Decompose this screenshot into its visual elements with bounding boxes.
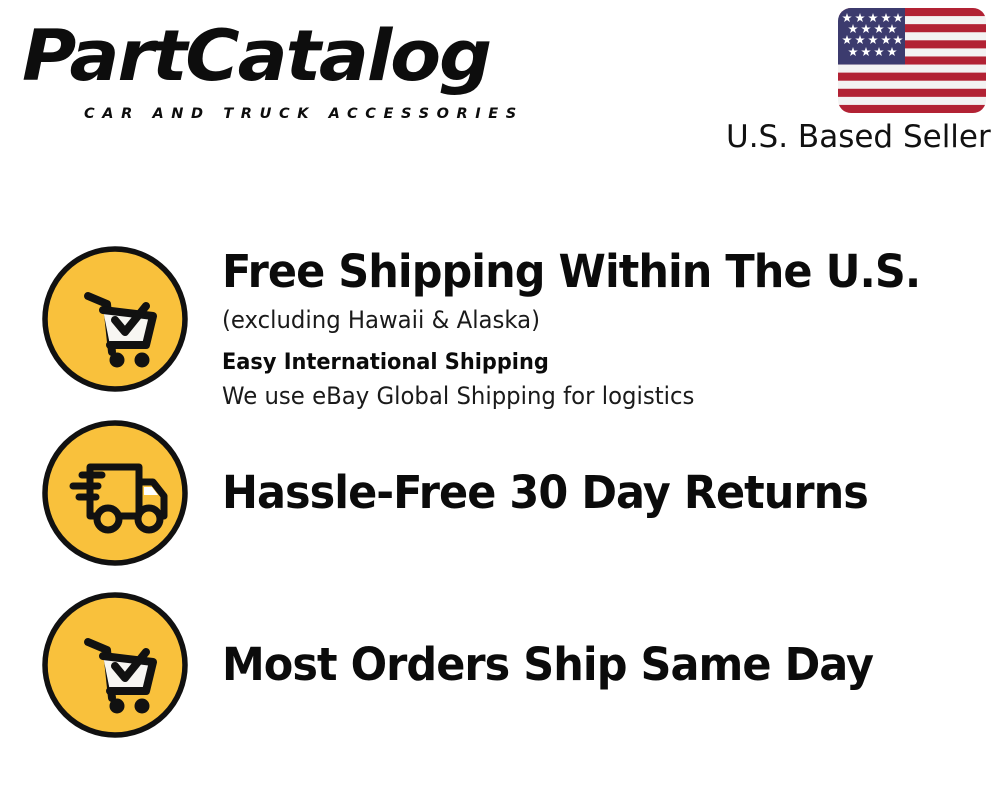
feature-text-block: Hassle-Free 30 Day Returns <box>190 467 970 519</box>
brand-logo: PartCatalog CAR AND TRUCK ACCESSORIES <box>22 20 492 115</box>
feature-text-block: Most Orders Ship Same Day <box>190 639 970 691</box>
shopping-cart-check-icon <box>40 244 190 394</box>
feature-text-block: Free Shipping Within The U.S. (excluding… <box>190 244 970 411</box>
feature-row: Hassle-Free 30 Day Returns <box>40 418 970 568</box>
us-based-seller-label: U.S. Based Seller <box>726 119 986 155</box>
shopping-cart-check-icon <box>40 590 190 740</box>
promo-banner: PartCatalog CAR AND TRUCK ACCESSORIES <box>0 0 1000 800</box>
brand-wordmark: PartCatalog <box>22 20 520 92</box>
us-flag-icon <box>838 8 986 113</box>
feature-note: (excluding Hawaii & Alaska) <box>222 305 933 335</box>
feature-row: Free Shipping Within The U.S. (excluding… <box>40 244 970 411</box>
feature-subhead: Easy International Shipping <box>222 349 933 377</box>
delivery-truck-icon <box>40 418 190 568</box>
us-based-seller-badge: U.S. Based Seller <box>726 8 986 155</box>
feature-body: We use eBay Global Shipping for logistic… <box>222 381 933 411</box>
feature-title: Most Orders Ship Same Day <box>222 639 936 691</box>
feature-row: Most Orders Ship Same Day <box>40 590 970 740</box>
brand-tagline: CAR AND TRUCK ACCESSORIES <box>84 106 524 122</box>
feature-title: Hassle-Free 30 Day Returns <box>222 467 936 519</box>
feature-title: Free Shipping Within The U.S. <box>222 246 936 298</box>
